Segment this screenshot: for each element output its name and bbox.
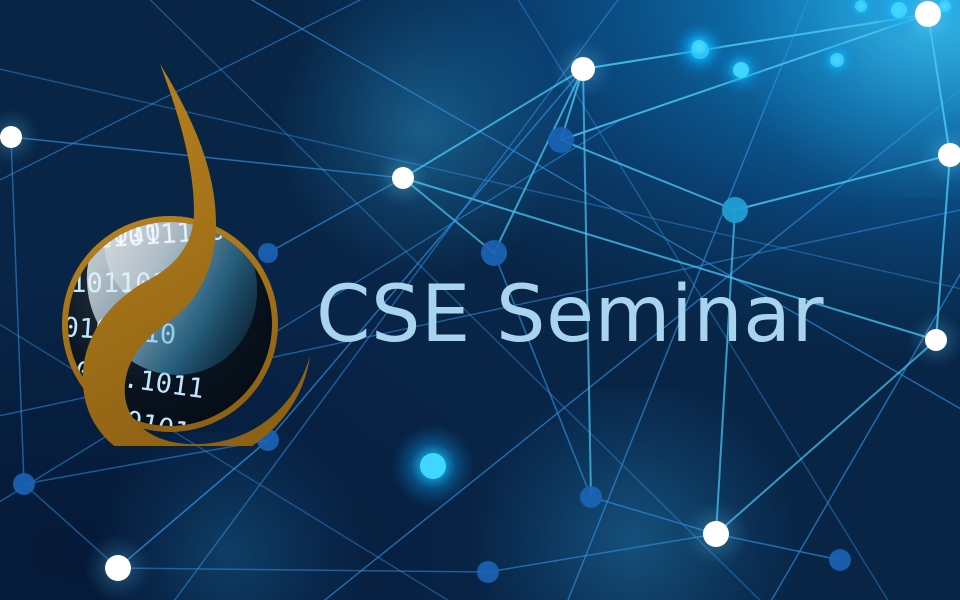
node-blue-bottom-right [829, 549, 851, 571]
glow-dot-d [830, 53, 844, 67]
glow-dot-c [692, 40, 706, 54]
page-title: CSE Seminar [316, 276, 824, 354]
svg-text:1010110: 1010110 [56, 117, 173, 167]
network-edge [735, 155, 950, 210]
node-top-center [571, 57, 595, 81]
node-blue-low-left [13, 473, 35, 495]
network-edge [118, 568, 488, 572]
glow-dot-b [733, 62, 749, 78]
network-edge [11, 137, 24, 484]
node-mid-right-blue [722, 197, 748, 223]
cse-seminar-banner: 110101 1010110 10010101 1011010 0101101 … [0, 0, 960, 600]
svg-text:110101: 110101 [67, 72, 169, 123]
node-upper-center [392, 167, 414, 189]
node-bottom-right [703, 521, 729, 547]
node-bottom-left [105, 555, 131, 581]
network-edge [716, 210, 735, 534]
node-blue-lower-right [580, 486, 602, 508]
node-right-title [925, 329, 947, 351]
node-top-right [915, 1, 941, 27]
node-blue-center [481, 240, 507, 266]
node-top-left-edge [0, 126, 22, 148]
network-edge [488, 534, 716, 572]
node-blue-lower-center [477, 561, 499, 583]
cse-flame-globe-logo: 110101 1010110 10010101 1011010 0101101 … [48, 56, 328, 446]
svg-text:10010101: 10010101 [49, 164, 182, 211]
network-edge [24, 440, 268, 484]
network-edge [561, 140, 735, 210]
glow-dot-g [855, 0, 867, 12]
glow-dot-f [420, 453, 446, 479]
network-glow-dots [391, 0, 960, 508]
node-blue-upper [548, 127, 574, 153]
